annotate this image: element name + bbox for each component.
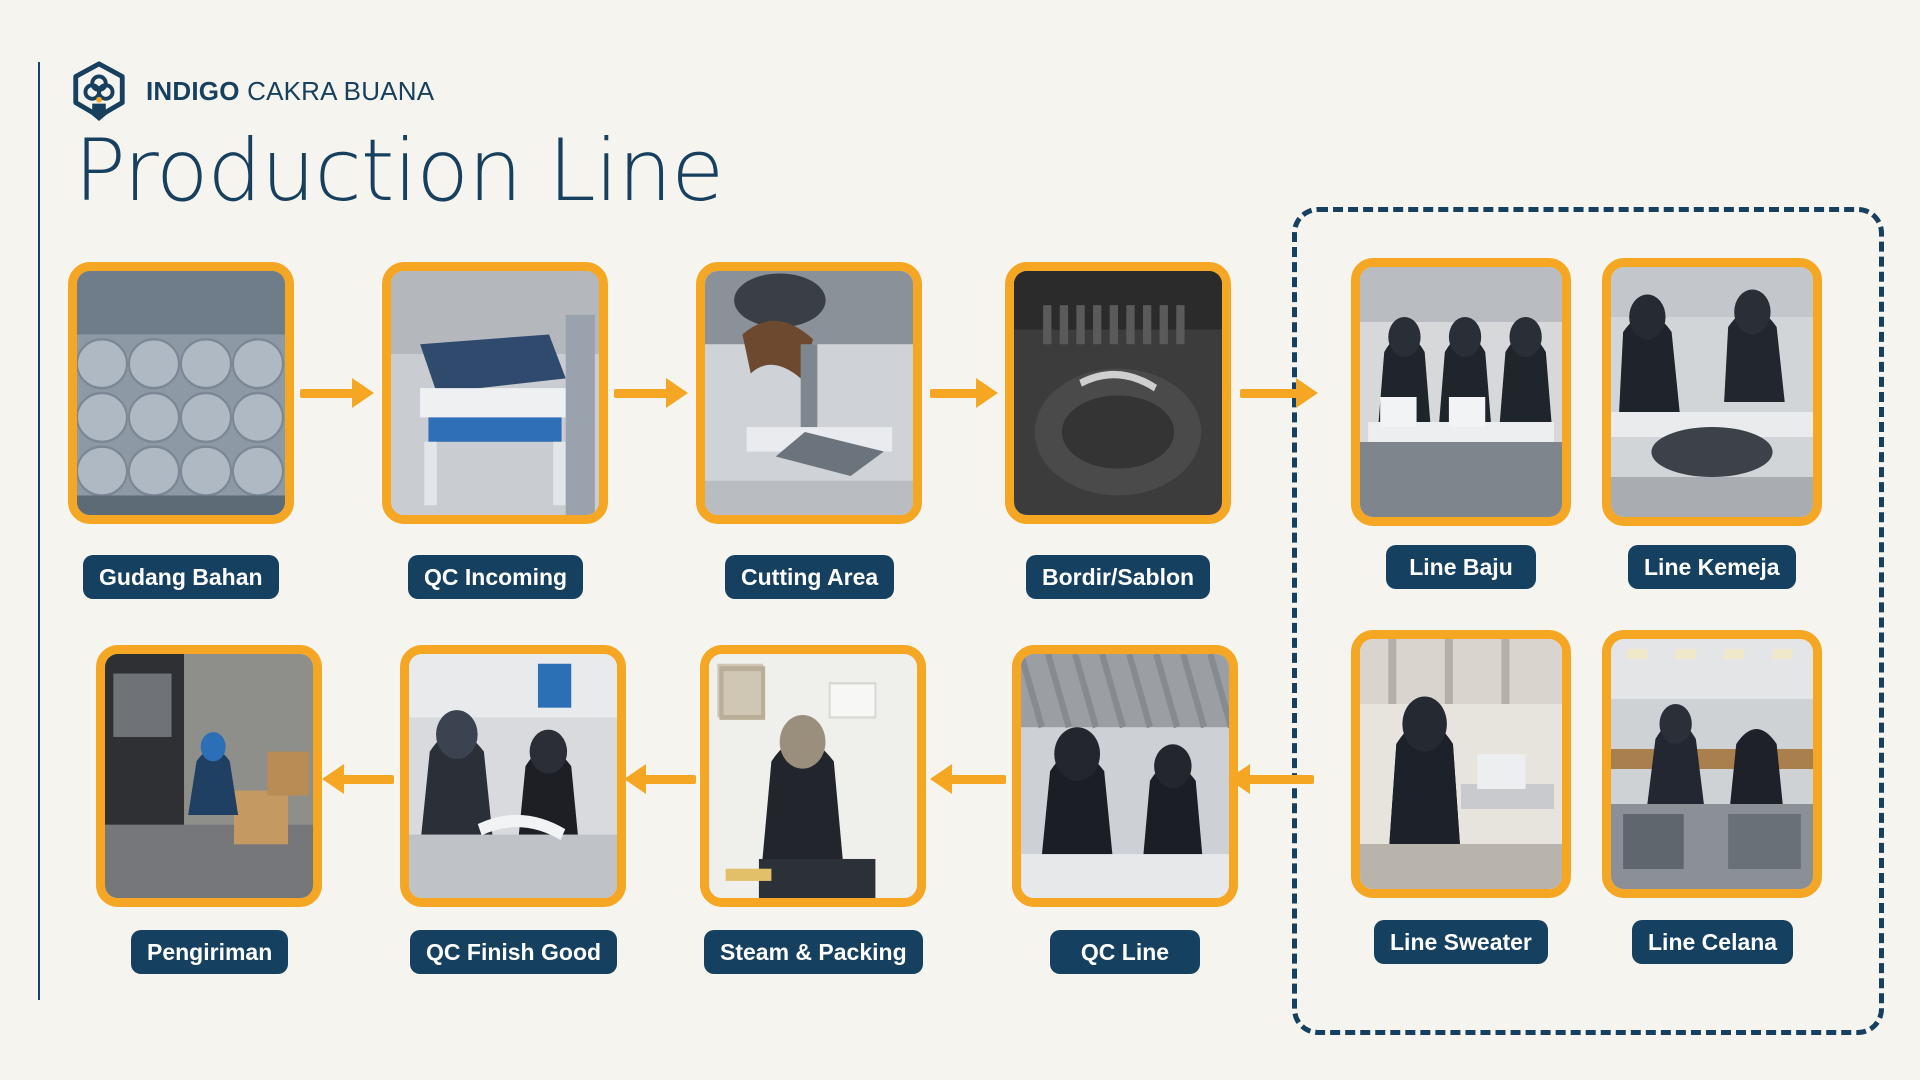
stage-label-7[interactable]: Steam & Packing — [704, 930, 923, 974]
stage-label-8[interactable]: QC Line — [1050, 930, 1200, 974]
stage-label-4[interactable]: Bordir/Sablon — [1026, 555, 1210, 599]
sewing-label-4[interactable]: Line Celana — [1632, 920, 1793, 964]
worker-cutting-fabric-with-machine-photo — [696, 262, 922, 524]
stage-label-1[interactable]: Gudang Bahan — [83, 555, 279, 599]
arrow-steam-packing-to-qc-finish-good — [624, 770, 696, 788]
arrow-qc-incoming-to-cutting — [614, 384, 688, 402]
fabric-inspection-machine-photo — [382, 262, 608, 524]
rolls-of-fabric-in-warehouse-photo — [68, 262, 294, 524]
sewing-label-1[interactable]: Line Baju — [1386, 545, 1536, 589]
sewing-line-celana-operators-photo — [1602, 630, 1822, 898]
stage-card-6[interactable] — [400, 645, 626, 907]
arrow-bordir-to-sewing-group — [1240, 384, 1318, 402]
hexagon-clover-arrow-logo-icon — [68, 60, 130, 122]
stage-card-7[interactable] — [700, 645, 926, 907]
arrow-cutting-to-bordir — [930, 384, 998, 402]
sewing-card-4[interactable] — [1602, 630, 1822, 898]
sewing-label-2[interactable]: Line Kemeja — [1628, 545, 1796, 589]
stage-card-4[interactable] — [1005, 262, 1231, 524]
slide-canvas: INDIGO CAKRA BUANA Production Line Gudan… — [0, 0, 1920, 1080]
stage-label-3[interactable]: Cutting Area — [725, 555, 894, 599]
left-accent-rule — [38, 62, 40, 1000]
stage-label-5[interactable]: Pengiriman — [131, 930, 288, 974]
brand-lockup: INDIGO CAKRA BUANA — [68, 60, 434, 122]
brand-name-primary: INDIGO — [146, 76, 240, 106]
workers-loading-boxes-into-truck-photo — [96, 645, 322, 907]
brand-name-secondary: CAKRA BUANA — [247, 76, 434, 106]
stage-card-8[interactable] — [1012, 645, 1238, 907]
arrow-qc-line-to-steam-packing — [930, 770, 1006, 788]
workers-checking-garments-on-line-photo — [1012, 645, 1238, 907]
sewing-line-sweater-operators-photo — [1351, 630, 1571, 898]
embroidery-machine-on-garment-photo — [1005, 262, 1231, 524]
arrow-qc-finish-good-to-pengiriman — [322, 770, 394, 788]
workers-inspecting-finished-garments-photo — [400, 645, 626, 907]
arrow-gudang-to-qc-incoming — [300, 384, 374, 402]
brand-name: INDIGO CAKRA BUANA — [146, 76, 434, 107]
stage-card-2[interactable] — [382, 262, 608, 524]
stage-label-6[interactable]: QC Finish Good — [410, 930, 617, 974]
sewing-line-kemeja-operators-photo — [1602, 258, 1822, 526]
stage-card-5[interactable] — [96, 645, 322, 907]
stage-label-2[interactable]: QC Incoming — [408, 555, 583, 599]
stage-card-1[interactable] — [68, 262, 294, 524]
arrow-sewing-group-to-qc-line — [1228, 770, 1314, 788]
sewing-card-2[interactable] — [1602, 258, 1822, 526]
worker-steaming-and-folding-garment-photo — [700, 645, 926, 907]
sewing-card-3[interactable] — [1351, 630, 1571, 898]
stage-card-3[interactable] — [696, 262, 922, 524]
sewing-label-3[interactable]: Line Sweater — [1374, 920, 1548, 964]
sewing-line-baju-operators-photo — [1351, 258, 1571, 526]
sewing-card-1[interactable] — [1351, 258, 1571, 526]
page-title: Production Line — [74, 128, 723, 214]
